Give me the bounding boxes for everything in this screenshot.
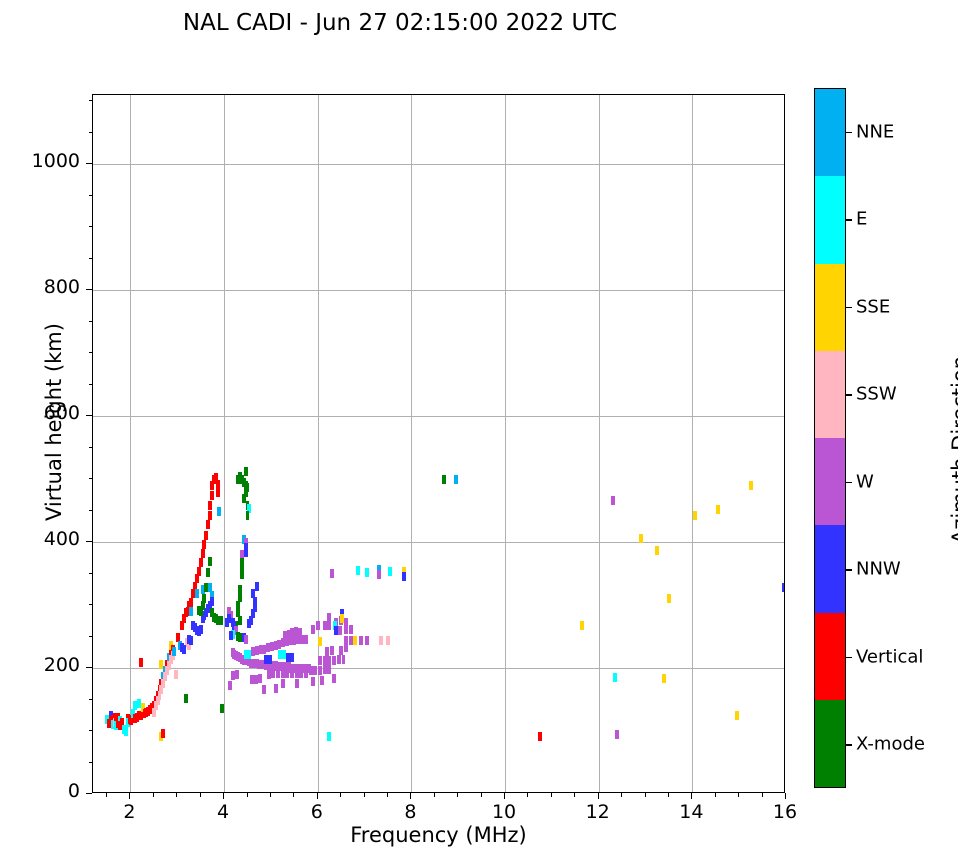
- x-tick-label: 4: [193, 801, 253, 823]
- data-point: [238, 616, 242, 625]
- data-point: [217, 507, 221, 516]
- y-tick: [86, 289, 92, 290]
- colorbar-segment-ssw[interactable]: [815, 351, 845, 438]
- x-tick: [317, 793, 318, 799]
- data-point: [189, 598, 193, 607]
- data-point: [327, 656, 331, 665]
- data-point: [208, 511, 212, 520]
- data-point: [216, 480, 220, 489]
- x-tick-minor: [645, 793, 646, 797]
- data-point: [202, 594, 206, 603]
- data-point: [204, 531, 208, 540]
- y-tick-minor: [89, 762, 93, 763]
- gridline-vertical: [505, 95, 506, 792]
- y-tick-minor: [89, 100, 93, 101]
- data-point: [208, 501, 212, 510]
- data-point: [208, 557, 212, 566]
- data-point: [210, 491, 214, 500]
- data-point: [240, 570, 244, 579]
- data-point: [320, 676, 324, 685]
- data-point: [344, 618, 348, 627]
- colorbar-segment-e[interactable]: [815, 176, 845, 263]
- y-tick-minor: [89, 636, 93, 637]
- data-point: [356, 566, 360, 575]
- data-point: [613, 673, 617, 682]
- data-point: [344, 636, 348, 645]
- x-tick-label: 10: [474, 801, 534, 823]
- data-point: [304, 669, 308, 678]
- data-point: [580, 621, 584, 630]
- data-point: [255, 582, 259, 591]
- gridline-horizontal: [93, 542, 784, 543]
- data-point: [327, 665, 331, 674]
- data-point: [281, 679, 285, 688]
- data-point: [309, 666, 313, 675]
- data-point: [332, 656, 336, 665]
- y-tick: [86, 415, 92, 416]
- colorbar-label-nne: NNE: [856, 121, 894, 142]
- data-point: [316, 621, 320, 630]
- x-tick-minor: [153, 793, 154, 797]
- data-point: [219, 616, 223, 625]
- colorbar-tick: [846, 569, 852, 570]
- data-point: [615, 730, 619, 739]
- y-tick: [86, 793, 92, 794]
- colorbar-label-vertical: Vertical: [856, 646, 923, 667]
- y-tick-minor: [89, 195, 93, 196]
- gridline-horizontal: [93, 164, 784, 165]
- colorbar-tick: [846, 394, 852, 395]
- ionogram-figure: NAL CADI - Jun 27 02:15:00 2022 UTC 2468…: [0, 0, 958, 857]
- y-tick: [86, 163, 92, 164]
- data-point: [318, 666, 322, 675]
- data-point: [359, 636, 363, 645]
- colorbar-segment-x-mode[interactable]: [815, 700, 845, 787]
- data-point: [246, 511, 250, 520]
- x-tick: [691, 793, 692, 799]
- colorbar-label-e: E: [856, 209, 867, 230]
- data-point: [197, 567, 201, 576]
- data-point: [274, 684, 278, 693]
- colorbar-label-w: W: [856, 471, 874, 492]
- data-point: [199, 558, 203, 567]
- x-tick-label: 8: [380, 801, 440, 823]
- x-tick-minor: [293, 793, 294, 797]
- x-tick-minor: [738, 793, 739, 797]
- y-tick-minor: [89, 510, 93, 511]
- x-tick-minor: [176, 793, 177, 797]
- data-point: [318, 637, 322, 646]
- data-point: [290, 669, 294, 678]
- gridline-horizontal: [93, 290, 784, 291]
- data-point: [323, 665, 327, 674]
- x-tick-minor: [200, 793, 201, 797]
- data-point: [323, 621, 327, 630]
- data-point: [295, 669, 299, 678]
- y-tick-minor: [89, 447, 93, 448]
- x-tick-minor: [340, 793, 341, 797]
- x-tick-minor: [621, 793, 622, 797]
- data-point: [330, 646, 334, 655]
- colorbar-tick: [846, 744, 852, 745]
- data-point: [267, 670, 271, 679]
- y-tick-minor: [89, 699, 93, 700]
- x-tick-minor: [270, 793, 271, 797]
- x-tick-minor: [762, 793, 763, 797]
- x-tick-label: 6: [287, 801, 347, 823]
- x-tick-minor: [527, 793, 528, 797]
- x-tick-minor: [387, 793, 388, 797]
- data-point: [655, 546, 659, 555]
- gridline-horizontal: [93, 668, 784, 669]
- data-point: [204, 583, 208, 592]
- data-point: [244, 548, 248, 557]
- data-point: [268, 655, 272, 664]
- colorbar-segment-nnw[interactable]: [815, 525, 845, 612]
- y-tick-label: 0: [10, 780, 80, 802]
- data-point: [206, 520, 210, 529]
- x-tick-label: 16: [755, 801, 815, 823]
- data-point: [229, 631, 233, 640]
- data-point: [228, 681, 232, 690]
- x-tick: [223, 793, 224, 799]
- colorbar-segment-sse[interactable]: [815, 264, 845, 351]
- data-point: [124, 727, 128, 736]
- data-point: [379, 636, 383, 645]
- data-point: [139, 658, 143, 667]
- data-point: [662, 674, 666, 683]
- y-tick-minor: [89, 478, 93, 479]
- gridline-vertical: [411, 95, 412, 792]
- data-point: [716, 505, 720, 514]
- data-point: [386, 636, 390, 645]
- y-tick: [86, 667, 92, 668]
- x-tick-minor: [715, 793, 716, 797]
- x-tick-label: 12: [568, 801, 628, 823]
- x-tick-minor: [551, 793, 552, 797]
- data-point: [290, 653, 294, 662]
- data-point: [334, 626, 338, 635]
- x-tick-minor: [668, 793, 669, 797]
- data-point: [182, 645, 186, 654]
- data-point: [210, 597, 214, 606]
- data-point: [199, 625, 203, 634]
- data-point: [749, 481, 753, 490]
- data-point: [189, 636, 193, 645]
- data-point: [258, 674, 262, 683]
- gridline-vertical: [692, 95, 693, 792]
- data-point: [172, 647, 176, 656]
- y-axis-label: Virtual height (km): [42, 122, 66, 722]
- colorbar[interactable]: [814, 88, 846, 788]
- data-point: [782, 583, 785, 592]
- data-point: [538, 732, 542, 741]
- x-tick-minor: [364, 793, 365, 797]
- colorbar-label-sse: SSE: [856, 296, 890, 317]
- colorbar-segment-vertical[interactable]: [815, 613, 845, 700]
- x-tick: [504, 793, 505, 799]
- page-title: NAL CADI - Jun 27 02:15:00 2022 UTC: [0, 10, 800, 36]
- y-tick-minor: [89, 132, 93, 133]
- colorbar-tick: [846, 132, 852, 133]
- data-point: [349, 636, 353, 645]
- data-point: [388, 567, 392, 576]
- data-point: [304, 635, 308, 644]
- colorbar-tick: [846, 482, 852, 483]
- data-point: [244, 467, 248, 476]
- colorbar-label-x-mode: X-mode: [856, 734, 925, 755]
- y-tick-minor: [89, 573, 93, 574]
- data-point: [299, 669, 303, 678]
- data-point: [340, 614, 344, 623]
- data-point: [247, 650, 251, 659]
- data-point: [639, 534, 643, 543]
- gridline-vertical: [224, 95, 225, 792]
- data-point: [323, 656, 327, 665]
- data-point: [342, 655, 346, 664]
- data-point: [365, 636, 369, 645]
- data-point: [244, 635, 248, 644]
- y-tick-minor: [89, 258, 93, 259]
- y-tick-minor: [89, 604, 93, 605]
- y-tick-minor: [89, 226, 93, 227]
- gridline-vertical: [599, 95, 600, 792]
- data-point: [339, 646, 343, 655]
- data-point: [454, 475, 458, 484]
- plot-canvas[interactable]: [92, 94, 785, 793]
- data-point: [184, 694, 188, 703]
- gridline-vertical: [318, 95, 319, 792]
- colorbar-tick: [846, 657, 852, 658]
- gridline-horizontal: [93, 416, 784, 417]
- data-point: [349, 625, 353, 634]
- data-point: [377, 570, 381, 579]
- y-tick: [86, 541, 92, 542]
- data-point: [285, 669, 289, 678]
- x-tick: [785, 793, 786, 799]
- gridline-vertical: [130, 95, 131, 792]
- data-point: [313, 666, 317, 675]
- data-point: [365, 568, 369, 577]
- data-point: [216, 488, 220, 497]
- data-point: [327, 732, 331, 741]
- y-tick-minor: [89, 730, 93, 731]
- data-point: [295, 679, 299, 688]
- data-point: [353, 636, 357, 645]
- y-tick-minor: [89, 384, 93, 385]
- data-point: [693, 511, 697, 520]
- y-tick-minor: [89, 321, 93, 322]
- x-tick: [129, 793, 130, 799]
- x-axis-label: Frequency (MHz): [92, 823, 785, 847]
- data-point: [332, 674, 336, 683]
- data-point: [402, 572, 406, 581]
- data-point: [327, 613, 331, 622]
- data-point: [281, 669, 285, 678]
- data-point: [271, 669, 275, 678]
- data-point: [276, 669, 280, 678]
- colorbar-segment-w[interactable]: [815, 438, 845, 525]
- data-point: [220, 704, 224, 713]
- data-point: [161, 729, 165, 738]
- data-point: [206, 568, 210, 577]
- x-tick-minor: [106, 793, 107, 797]
- data-point: [667, 594, 671, 603]
- data-point: [201, 549, 205, 558]
- data-point: [311, 625, 315, 634]
- data-point: [174, 670, 178, 679]
- colorbar-title: Azimuth Direction: [948, 200, 958, 700]
- data-point: [325, 647, 329, 656]
- data-point: [195, 589, 199, 598]
- data-point: [337, 655, 341, 664]
- x-tick-label: 14: [661, 801, 721, 823]
- data-point: [225, 618, 229, 627]
- data-point: [338, 626, 342, 635]
- data-point: [311, 677, 315, 686]
- data-point: [442, 475, 446, 484]
- x-tick-minor: [434, 793, 435, 797]
- data-point: [330, 569, 334, 578]
- data-point: [611, 496, 615, 505]
- x-tick: [410, 793, 411, 799]
- data-point: [735, 711, 739, 720]
- data-point: [235, 670, 239, 679]
- data-point: [202, 540, 206, 549]
- x-tick-label: 2: [99, 801, 159, 823]
- data-point: [189, 607, 193, 616]
- data-point: [298, 628, 302, 637]
- colorbar-label-ssw: SSW: [856, 384, 897, 405]
- x-tick-minor: [574, 793, 575, 797]
- x-tick-minor: [247, 793, 248, 797]
- colorbar-segment-nne[interactable]: [815, 89, 845, 176]
- y-tick-minor: [89, 352, 93, 353]
- colorbar-label-nnw: NNW: [856, 559, 901, 580]
- data-point: [262, 685, 266, 694]
- x-tick-minor: [457, 793, 458, 797]
- colorbar-tick: [846, 307, 852, 308]
- colorbar-tick: [846, 219, 852, 220]
- data-point: [318, 656, 322, 665]
- x-tick: [598, 793, 599, 799]
- x-tick-minor: [481, 793, 482, 797]
